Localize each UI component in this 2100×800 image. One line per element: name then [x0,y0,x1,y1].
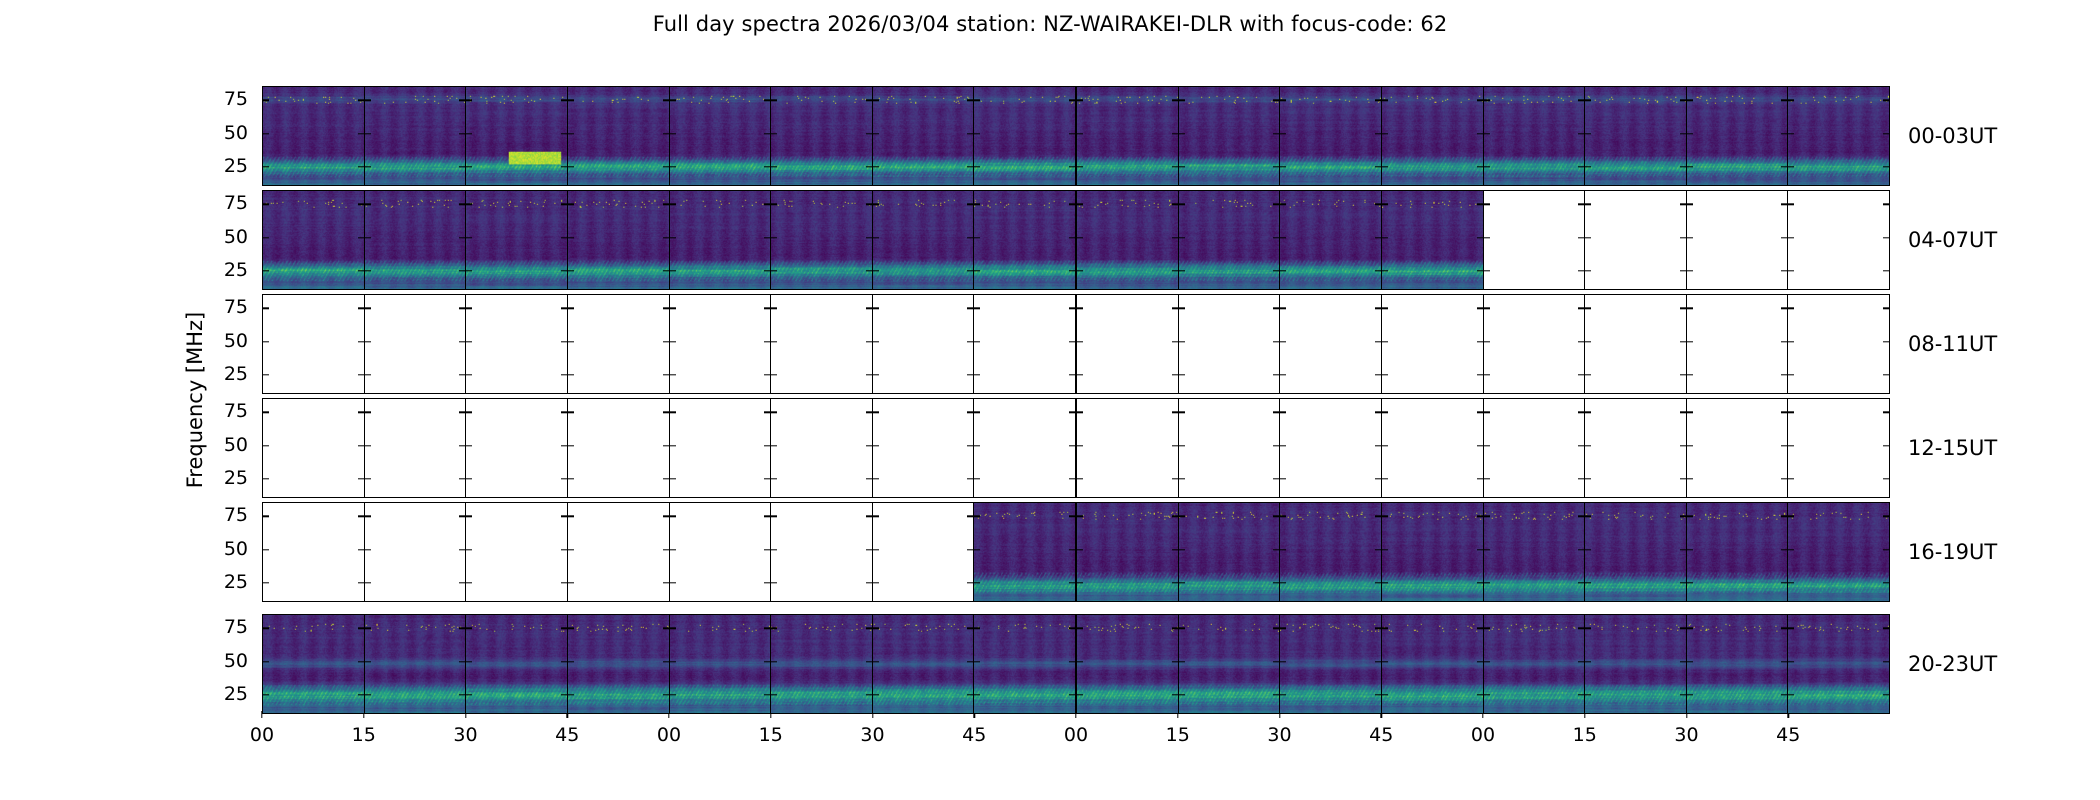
y-tick-mark [967,582,973,583]
row-label-16-19ut: 16-19UT [1908,540,1997,564]
spectrogram-panel[interactable] [466,615,568,713]
y-tick-mark [1781,133,1787,134]
spectrogram-figure: Full day spectra 2026/03/04 station: NZ-… [0,0,2100,800]
spectrogram-panel[interactable] [670,503,772,601]
y-tick-mark [1273,100,1279,101]
y-tick-mark [866,133,872,134]
spectrogram-panel[interactable] [1585,191,1687,289]
y-tick-label: 25 [224,363,248,385]
y-tick-mark [1585,445,1591,446]
spectrogram-panel[interactable] [974,399,1077,497]
y-tick-mark [1172,516,1178,517]
spectrogram-panel[interactable] [771,503,873,601]
y-tick-mark [1280,478,1286,479]
y-tick-mark [1375,516,1381,517]
spectrogram-panel[interactable] [670,615,772,713]
y-tick-mark [358,100,364,101]
y-tick-mark [663,341,669,342]
y-tick-mark [771,582,777,583]
spectrogram-row-08-11ut[interactable] [262,294,1890,394]
y-tick-mark [866,204,872,205]
y-tick-mark [1477,308,1483,309]
y-tick-mark [873,582,879,583]
spectrogram-panel[interactable] [1484,615,1586,713]
y-tick-mark [1280,661,1286,662]
y-tick-mark [1069,582,1075,583]
y-tick-mark [1382,204,1388,205]
y-tick-mark [466,237,472,238]
y-tick-mark [1280,582,1286,583]
spectrogram-row-16-19ut[interactable] [262,502,1890,602]
spectrogram-panel[interactable] [466,191,568,289]
y-tick-mark [1788,166,1794,167]
spectrogram-panel[interactable] [1788,87,1889,185]
y-tick-mark [1680,204,1686,205]
y-tick-mark [764,661,770,662]
spectrogram-panel[interactable] [568,295,670,393]
y-tick-mark [1382,478,1388,479]
spectrogram-panel[interactable] [1179,295,1281,393]
y-tick-mark [459,445,465,446]
y-tick-mark [1680,374,1686,375]
y-tick-label: 25 [224,683,248,705]
y-tick-mark [1077,166,1083,167]
spectrogram-panel[interactable] [365,87,467,185]
y-tick-mark [1273,478,1279,479]
y-tick-mark [764,445,770,446]
spectrogram-panel[interactable] [263,615,365,713]
row-label-08-11ut: 08-11UT [1908,332,1997,356]
spectrogram-panel[interactable] [263,191,365,289]
spectrogram-panel[interactable] [1687,503,1789,601]
y-tick-mark [967,445,973,446]
y-tick-mark [1484,308,1490,309]
y-tick-mark [358,204,364,205]
spectrogram-panel[interactable] [1687,615,1789,713]
spectrogram-panel[interactable] [1687,295,1789,393]
spectrogram-panel[interactable] [1280,87,1382,185]
spectrogram-panel[interactable] [1077,295,1179,393]
y-tick-mark [1585,270,1591,271]
y-tick-mark [663,661,669,662]
spectrogram-image [365,87,466,185]
spectrogram-panel[interactable] [1077,615,1179,713]
y-tick-mark [466,374,472,375]
y-tick-mark [1069,100,1075,101]
y-tick-mark [1883,100,1889,101]
spectrogram-panel[interactable] [1382,191,1484,289]
spectrogram-panel[interactable] [873,295,975,393]
y-tick-mark [1273,133,1279,134]
spectrogram-image [974,87,1075,185]
spectrogram-panel[interactable] [1179,503,1281,601]
spectrogram-panel[interactable] [1382,615,1484,713]
spectrogram-row-00-03ut[interactable] [262,86,1890,186]
y-tick-mark [459,204,465,205]
y-tick-mark [1578,100,1584,101]
spectrogram-panel[interactable] [771,295,873,393]
y-tick-mark [974,237,980,238]
y-tick-mark [1585,516,1591,517]
y-tick-mark [1484,270,1490,271]
spectrogram-panel[interactable] [365,615,467,713]
y-tick-mark [1172,166,1178,167]
spectrogram-panel[interactable] [365,295,467,393]
y-tick-mark [1883,412,1889,413]
y-tick-mark [967,166,973,167]
y-tick-mark [1382,100,1388,101]
y-tick-mark [1477,628,1483,629]
y-tick-mark [568,270,574,271]
spectrogram-panel[interactable] [466,399,568,497]
y-tick-mark [1883,478,1889,479]
spectrogram-panel[interactable] [873,615,975,713]
y-tick-mark [670,374,676,375]
y-tick-mark [1172,628,1178,629]
y-tick-label: 50 [224,650,248,672]
spectrogram-panel[interactable] [771,615,873,713]
y-tick-mark [1585,549,1591,550]
y-tick-mark [568,478,574,479]
y-tick-mark [1687,308,1693,309]
y-tick-mark [866,374,872,375]
y-tick-mark [1069,204,1075,205]
y-tick-mark [263,582,269,583]
y-tick-mark [1883,661,1889,662]
spectrogram-panel[interactable] [1585,503,1687,601]
spectrogram-panel[interactable] [1687,87,1789,185]
y-tick-label: 50 [224,434,248,456]
y-tick-mark [1484,582,1490,583]
spectrogram-row-12-15ut[interactable] [262,398,1890,498]
spectrogram-panel[interactable] [1484,399,1586,497]
y-tick-mark [1172,308,1178,309]
spectrogram-panel[interactable] [771,191,873,289]
y-tick-mark [866,166,872,167]
y-tick-mark [1484,204,1490,205]
y-tick-mark [358,270,364,271]
y-tick-mark [561,694,567,695]
y-tick-mark [1585,582,1591,583]
y-tick-mark [1077,694,1083,695]
spectrogram-panel[interactable] [263,295,365,393]
y-tick-mark [1578,308,1584,309]
y-tick-mark [1375,694,1381,695]
y-tick-mark [1883,516,1889,517]
y-tick-mark [1781,270,1787,271]
y-tick-mark [1273,516,1279,517]
y-tick-mark [466,549,472,550]
spectrogram-panel[interactable] [1484,87,1586,185]
y-tick-mark [1280,628,1286,629]
spectrogram-panel[interactable] [974,615,1077,713]
spectrogram-panel[interactable] [263,503,365,601]
y-tick-mark [670,694,676,695]
y-tick-mark [663,100,669,101]
spectrogram-panel[interactable] [1179,615,1281,713]
spectrogram-panel[interactable] [1484,295,1586,393]
y-tick-mark [1179,204,1185,205]
spectrogram-panel[interactable] [1382,295,1484,393]
y-tick-mark [1077,549,1083,550]
spectrogram-panel[interactable] [670,399,772,497]
y-tick-mark [1172,694,1178,695]
y-tick-mark [1788,516,1794,517]
y-tick-mark [1484,341,1490,342]
spectrogram-panel[interactable] [1280,503,1382,601]
spectrogram-panel[interactable] [568,191,670,289]
y-tick-mark [263,341,269,342]
y-tick-mark [967,374,973,375]
y-tick-mark [873,374,879,375]
spectrogram-panel[interactable] [1077,191,1179,289]
y-tick-mark [866,694,872,695]
y-tick-mark [1382,166,1388,167]
y-tick-mark [568,374,574,375]
spectrogram-panel[interactable] [1687,399,1789,497]
y-tick-mark [1179,341,1185,342]
spectrogram-panel[interactable] [771,399,873,497]
spectrogram-panel[interactable] [1280,399,1382,497]
y-tick-mark [466,478,472,479]
y-tick-mark [1788,628,1794,629]
y-tick-mark [1788,308,1794,309]
spectrogram-panel[interactable] [1788,503,1889,601]
x-tick-label: 45 [1369,724,1393,746]
y-tick-mark [263,516,269,517]
spectrogram-panel[interactable] [873,87,975,185]
x-tick-label: 15 [1573,724,1597,746]
y-tick-mark [670,204,676,205]
y-tick-mark [967,478,973,479]
y-tick-mark [1781,445,1787,446]
spectrogram-panel[interactable] [263,399,365,497]
spectrogram-panel[interactable] [974,191,1077,289]
spectrogram-image [1280,615,1381,713]
y-tick-mark [459,582,465,583]
spectrogram-panel[interactable] [1382,87,1484,185]
spectrogram-panel[interactable] [1687,191,1789,289]
spectrogram-panel[interactable] [873,191,975,289]
y-tick-mark [1578,133,1584,134]
y-tick-mark [663,582,669,583]
spectrogram-panel[interactable] [1077,87,1179,185]
y-tick-mark [1585,694,1591,695]
y-tick-mark [1578,166,1584,167]
y-tick-mark [1382,582,1388,583]
y-tick-mark [1280,100,1286,101]
y-tick-mark [663,445,669,446]
y-tick-mark [365,204,371,205]
y-tick-label: 75 [224,504,248,526]
spectrogram-panel[interactable] [670,191,772,289]
y-tick-mark [1883,133,1889,134]
y-tick-mark [1477,341,1483,342]
y-tick-mark [1069,133,1075,134]
y-tick-mark [670,445,676,446]
y-tick-mark [1179,694,1185,695]
spectrogram-panel[interactable] [1585,295,1687,393]
spectrogram-panel[interactable] [670,295,772,393]
spectrogram-panel[interactable] [873,503,975,601]
spectrogram-panel[interactable] [1382,503,1484,601]
y-tick-mark [1578,661,1584,662]
spectrogram-image [873,191,974,289]
row-label-04-07ut: 04-07UT [1908,228,1997,252]
y-tick-mark [263,628,269,629]
spectrogram-panel[interactable] [1077,503,1179,601]
y-tick-mark [1680,549,1686,550]
y-tick-mark [1280,204,1286,205]
y-tick-mark [1382,516,1388,517]
y-tick-mark [1578,478,1584,479]
y-tick-mark [771,341,777,342]
y-tick-mark [974,661,980,662]
y-tick-mark [1484,661,1490,662]
y-tick-mark [1781,582,1787,583]
y-tick-mark [663,549,669,550]
y-tick-mark [459,516,465,517]
y-tick-mark [1280,133,1286,134]
y-tick-mark [1585,628,1591,629]
y-tick-mark [459,270,465,271]
y-tick-mark [967,237,973,238]
spectrogram-panel[interactable] [1484,191,1586,289]
y-tick-mark [1484,374,1490,375]
y-tick-mark [568,100,574,101]
y-tick-mark [967,100,973,101]
spectrogram-row-04-07ut[interactable] [262,190,1890,290]
y-tick-mark [1484,478,1490,479]
y-tick-mark [873,549,879,550]
y-tick-mark [670,516,676,517]
y-tick-mark [561,661,567,662]
spectrogram-panel[interactable] [466,295,568,393]
y-tick-mark [771,549,777,550]
row-label-20-23ut: 20-23UT [1908,652,1997,676]
y-tick-mark [771,270,777,271]
y-tick-mark [1273,237,1279,238]
y-tick-mark [771,166,777,167]
y-tick-mark [1477,412,1483,413]
y-tick-mark [873,204,879,205]
y-tick-mark [1077,308,1083,309]
spectrogram-panel[interactable] [365,191,467,289]
y-tick-mark [663,694,669,695]
spectrogram-image [771,191,872,289]
y-tick-mark [568,661,574,662]
y-tick-mark [1484,133,1490,134]
spectrogram-panel[interactable] [974,503,1077,601]
y-tick-mark [974,478,980,479]
spectrogram-image [1788,503,1889,601]
spectrogram-panel[interactable] [466,503,568,601]
spectrogram-image [1077,615,1178,713]
spectrogram-panel[interactable] [1788,295,1889,393]
y-tick-mark [1788,374,1794,375]
y-tick-mark [263,549,269,550]
spectrogram-panel[interactable] [568,87,670,185]
spectrogram-panel[interactable] [670,87,772,185]
y-tick-mark [1687,516,1693,517]
spectrogram-panel[interactable] [1585,87,1687,185]
y-tick-mark [873,308,879,309]
y-tick-mark [1273,582,1279,583]
y-axis-tick-group: 755025 [0,190,262,290]
y-tick-mark [1781,237,1787,238]
spectrogram-panel[interactable] [1382,399,1484,497]
spectrogram-panel[interactable] [1179,87,1281,185]
spectrogram-panel[interactable] [1280,615,1382,713]
y-tick-mark [1680,628,1686,629]
y-axis-tick-group: 755025 [0,86,262,186]
x-tick-label: 00 [657,724,681,746]
y-tick-mark [670,582,676,583]
spectrogram-panel[interactable] [1585,615,1687,713]
y-tick-mark [670,270,676,271]
spectrogram-panel[interactable] [1077,399,1179,497]
y-tick-mark [771,412,777,413]
y-tick-mark [764,341,770,342]
y-tick-mark [365,100,371,101]
y-tick-mark [1280,694,1286,695]
spectrogram-panel[interactable] [1788,615,1889,713]
y-tick-mark [663,412,669,413]
y-tick-mark [1382,308,1388,309]
y-tick-mark [670,412,676,413]
spectrogram-panel[interactable] [365,503,467,601]
spectrogram-panel[interactable] [1280,295,1382,393]
y-tick-mark [568,516,574,517]
spectrogram-panel[interactable] [568,503,670,601]
spectrogram-panel[interactable] [568,615,670,713]
spectrogram-panel[interactable] [1788,399,1889,497]
spectrogram-panel[interactable] [1585,399,1687,497]
spectrogram-panel[interactable] [974,87,1077,185]
spectrogram-panel[interactable] [568,399,670,497]
y-tick-mark [1179,237,1185,238]
y-tick-mark [967,412,973,413]
y-tick-mark [663,308,669,309]
spectrogram-panel[interactable] [1179,399,1281,497]
y-tick-mark [974,628,980,629]
spectrogram-panel[interactable] [1788,191,1889,289]
spectrogram-panel[interactable] [365,399,467,497]
spectrogram-panel[interactable] [263,87,365,185]
y-tick-mark [1680,445,1686,446]
y-tick-mark [1781,166,1787,167]
spectrogram-panel[interactable] [873,399,975,497]
y-tick-mark [568,412,574,413]
spectrogram-row-20-23ut[interactable] [262,614,1890,714]
spectrogram-panel[interactable] [1280,191,1382,289]
y-tick-mark [663,478,669,479]
y-tick-mark [1883,308,1889,309]
y-tick-mark [1484,166,1490,167]
y-tick-mark [459,308,465,309]
spectrogram-panel[interactable] [1484,503,1586,601]
y-tick-mark [771,133,777,134]
y-tick-mark [974,341,980,342]
spectrogram-panel[interactable] [1179,191,1281,289]
y-tick-mark [866,516,872,517]
spectrogram-panel[interactable] [466,87,568,185]
spectrogram-panel[interactable] [974,295,1077,393]
y-tick-mark [1883,237,1889,238]
y-tick-mark [1680,100,1686,101]
y-tick-mark [1375,661,1381,662]
spectrogram-panel[interactable] [771,87,873,185]
